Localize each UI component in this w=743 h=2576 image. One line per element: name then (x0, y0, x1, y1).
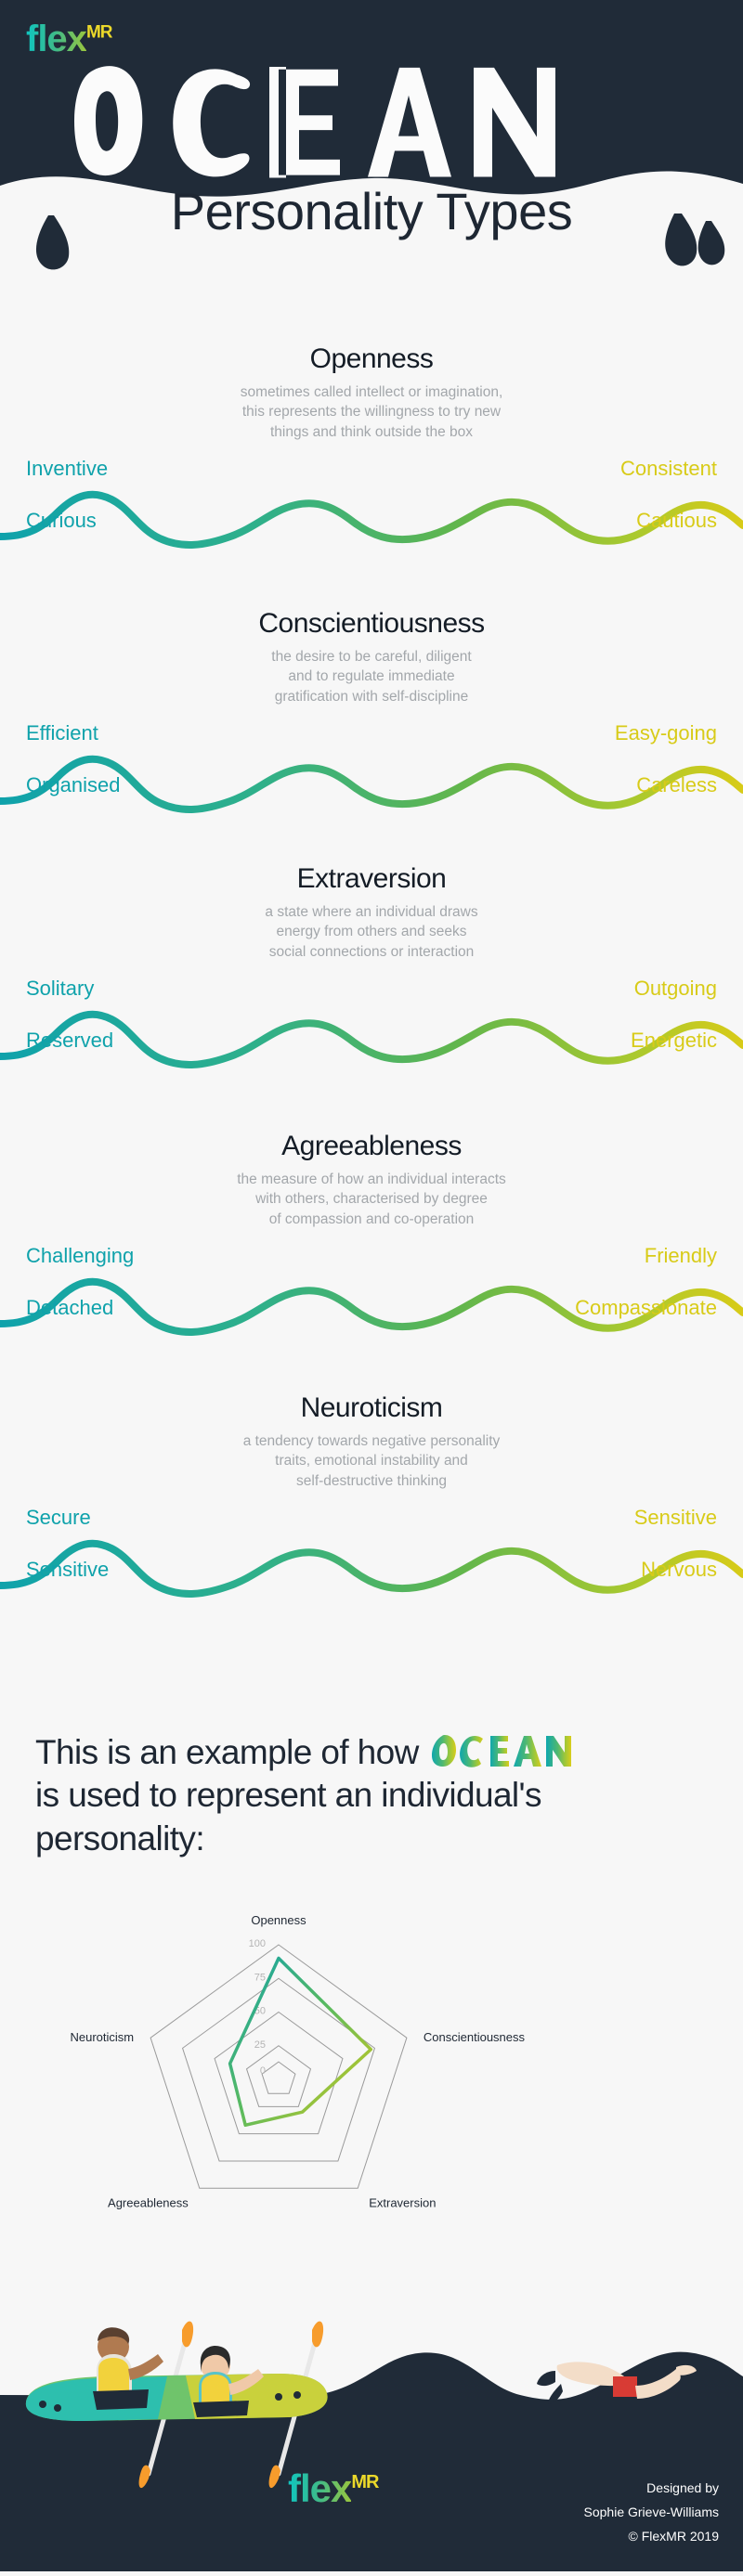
trait-description-neuroticism: a tendency towards negative personalityt… (0, 1431, 743, 1491)
credits: Designed by Sophie Grieve-Williams © Fle… (440, 2477, 719, 2549)
footer-logo-mr-text: MR (351, 2472, 378, 2492)
trait-description-agreeableness: the measure of how an individual interac… (0, 1170, 743, 1229)
trait-label-openness-left-bottom: Curious (26, 509, 97, 533)
trait-label-neuroticism-right-bottom: Nervous (641, 1558, 717, 1582)
logo-footer: flexMR (288, 2469, 378, 2508)
trait-section-openness: Opennesssometimes called intellect or im… (0, 343, 743, 608)
radar-tick-100: 100 (249, 1938, 266, 1949)
radar-grid (150, 1945, 407, 2188)
trait-label-extraversion-left-top: Solitary (26, 977, 94, 1001)
trait-description-conscientiousness: the desire to be careful, diligentand to… (0, 647, 743, 706)
description-line: the desire to be careful, diligent (0, 647, 743, 667)
trait-label-neuroticism-left-bottom: Sensitive (26, 1558, 109, 1582)
trait-label-agreeableness-right-top: Friendly (645, 1244, 717, 1268)
description-line: this represents the willingness to try n… (0, 402, 743, 421)
description-line: sometimes called intellect or imaginatio… (0, 382, 743, 402)
trait-label-conscientiousness-left-bottom: Organised (26, 773, 121, 797)
radar-axis-label-agreeableness: Agreeableness (108, 2195, 189, 2209)
logo-header: flexMR (26, 20, 112, 58)
trait-label-conscientiousness-right-top: Easy-going (615, 721, 717, 745)
credits-copyright: © FlexMR 2019 (440, 2525, 719, 2549)
trait-label-extraversion-right-top: Outgoing (634, 977, 717, 1001)
description-line: the measure of how an individual interac… (0, 1170, 743, 1189)
trait-label-neuroticism-right-top: Sensitive (634, 1506, 717, 1530)
trait-label-conscientiousness-right-bottom: Careless (636, 773, 717, 797)
description-line: traits, emotional instability and (0, 1451, 743, 1470)
radar-tick-0: 0 (260, 2065, 266, 2077)
radar-tick-25: 25 (254, 2039, 266, 2051)
description-line: with others, characterised by degree (0, 1189, 743, 1209)
example-text-after: is used to represent an individual's per… (35, 1776, 541, 1857)
trait-description-extraversion: a state where an individual drawsenergy … (0, 902, 743, 962)
trait-label-agreeableness-right-bottom: Compassionate (575, 1296, 717, 1320)
ocean-inline-brush (427, 1732, 576, 1767)
description-line: energy from others and seeks (0, 922, 743, 941)
trait-title-neuroticism: Neuroticism (0, 1392, 743, 1424)
radar-axis-label-neuroticism: Neuroticism (70, 2030, 134, 2044)
description-line: things and think outside the box (0, 422, 743, 442)
wave-path (0, 495, 743, 545)
trait-title-agreeableness: Agreeableness (0, 1131, 743, 1162)
credits-designed-by: Designed by (440, 2477, 719, 2501)
trait-label-extraversion-right-bottom: Energetic (631, 1029, 717, 1053)
radar-ring-0 (262, 2062, 295, 2093)
description-line: gratification with self-discipline (0, 687, 743, 706)
radar-ring-25 (247, 2046, 311, 2107)
trait-title-extraversion: Extraversion (0, 863, 743, 895)
description-line: and to regulate immediate (0, 667, 743, 686)
page-title: Personality Types (0, 181, 743, 241)
description-line: a state where an individual draws (0, 902, 743, 922)
trait-label-agreeableness-left-bottom: Detached (26, 1296, 113, 1320)
wave-path (0, 1544, 743, 1594)
description-line: of compassion and co-operation (0, 1210, 743, 1229)
example-statement: This is an example of how is used to rep… (35, 1731, 713, 1860)
trait-label-neuroticism-left-top: Secure (26, 1506, 91, 1530)
trait-section-conscientiousness: Conscientiousnessthe desire to be carefu… (0, 608, 743, 873)
trait-title-conscientiousness: Conscientiousness (0, 608, 743, 640)
trait-section-agreeableness: Agreeablenessthe measure of how an indiv… (0, 1131, 743, 1395)
header: flexMR Personality Types (0, 0, 743, 316)
trait-label-openness-left-top: Inventive (26, 457, 108, 481)
radar-axis-label-openness: Openness (251, 1913, 306, 1927)
example-text-before: This is an example of how (35, 1733, 427, 1771)
radar-chart: 0255075100 OpennessConscientiousnessExtr… (0, 1875, 743, 2265)
radar-axis-label-extraversion: Extraversion (369, 2195, 436, 2209)
description-line: a tendency towards negative personality (0, 1431, 743, 1451)
trait-section-neuroticism: Neuroticisma tendency towards negative p… (0, 1392, 743, 1657)
description-line: social connections or interaction (0, 942, 743, 962)
radar-tick-75: 75 (254, 1972, 266, 1983)
trait-label-agreeableness-left-top: Challenging (26, 1244, 134, 1268)
trait-label-openness-right-bottom: Cautious (636, 509, 717, 533)
trait-title-openness: Openness (0, 343, 743, 375)
credits-designer-name: Sophie Grieve-Williams (440, 2501, 719, 2525)
trait-section-extraversion: Extraversiona state where an individual … (0, 863, 743, 1128)
trait-label-extraversion-left-bottom: Reserved (26, 1029, 113, 1053)
trait-wave-neuroticism (0, 1513, 743, 1625)
radar-axis-label-conscientiousness: Conscientiousness (424, 2030, 526, 2044)
trait-wave-openness (0, 464, 743, 576)
radar-axis-labels: OpennessConscientiousnessExtraversionAgr… (70, 1913, 525, 2209)
trait-label-openness-right-top: Consistent (620, 457, 717, 481)
trait-description-openness: sometimes called intellect or imaginatio… (0, 382, 743, 442)
ocean-brush-title (0, 54, 743, 184)
footer-logo-flex-text: flex (288, 2466, 351, 2510)
logo-mr-text: MR (86, 23, 112, 43)
description-line: self-destructive thinking (0, 1471, 743, 1491)
trait-label-conscientiousness-left-top: Efficient (26, 721, 98, 745)
